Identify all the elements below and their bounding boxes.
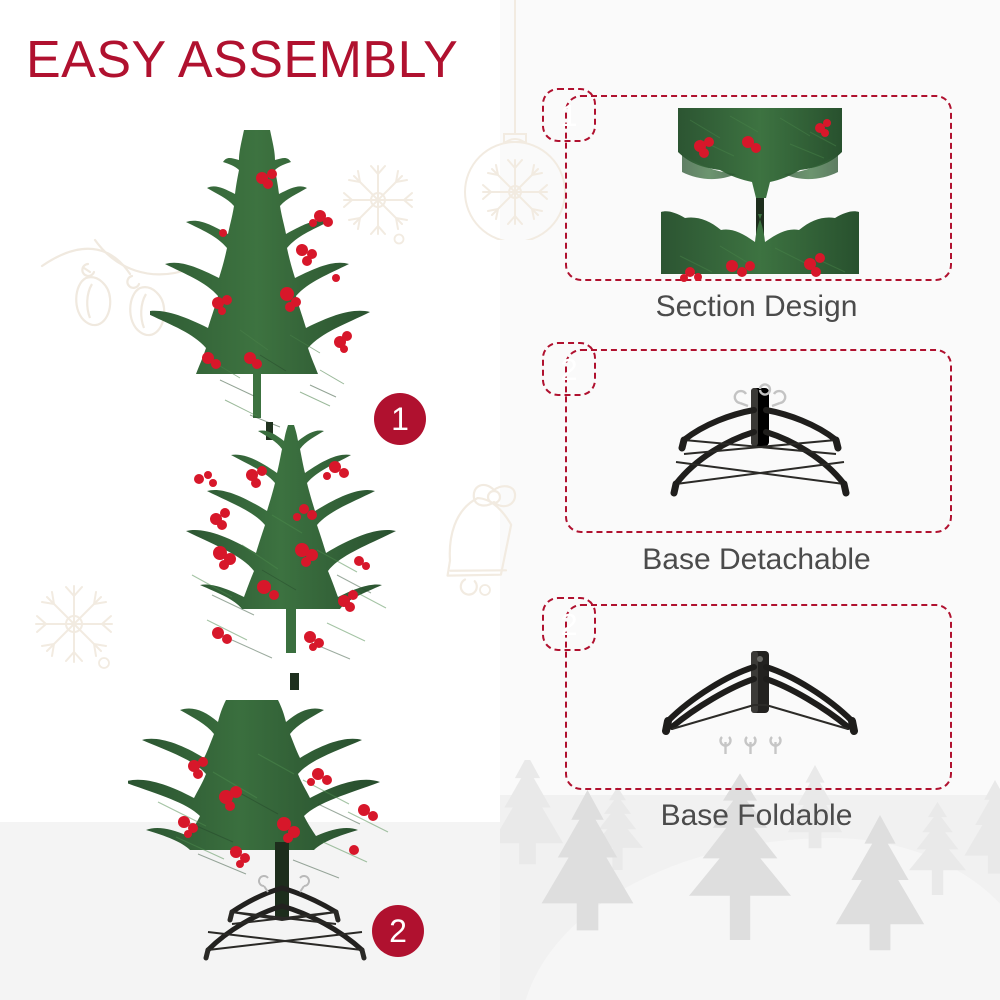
- step-badge-1: 1: [374, 393, 426, 445]
- snowflake-icon: [28, 578, 120, 670]
- stand-folded-icon: [650, 645, 870, 770]
- tree-middle-section: [152, 425, 442, 695]
- panel-caption-section-design: Section Design: [565, 290, 948, 324]
- panel-badge-1: 1: [542, 88, 596, 142]
- tree-section-icon: [660, 106, 860, 291]
- panel-badge-2: 2: [542, 342, 596, 396]
- infographic-canvas: EASY ASSEMBLY: [0, 0, 1000, 1000]
- panel-caption-base-foldable: Base Foldable: [565, 799, 948, 833]
- step-badge-2: 2: [372, 905, 424, 957]
- panel-badge-3: 2: [542, 597, 596, 651]
- page-title: EASY ASSEMBLY: [26, 34, 458, 86]
- small-circle-dot: [96, 655, 112, 671]
- panel-caption-base-detachable: Base Detachable: [565, 543, 948, 577]
- tree-top-section: [150, 130, 420, 445]
- stand-open-icon: [660, 380, 860, 513]
